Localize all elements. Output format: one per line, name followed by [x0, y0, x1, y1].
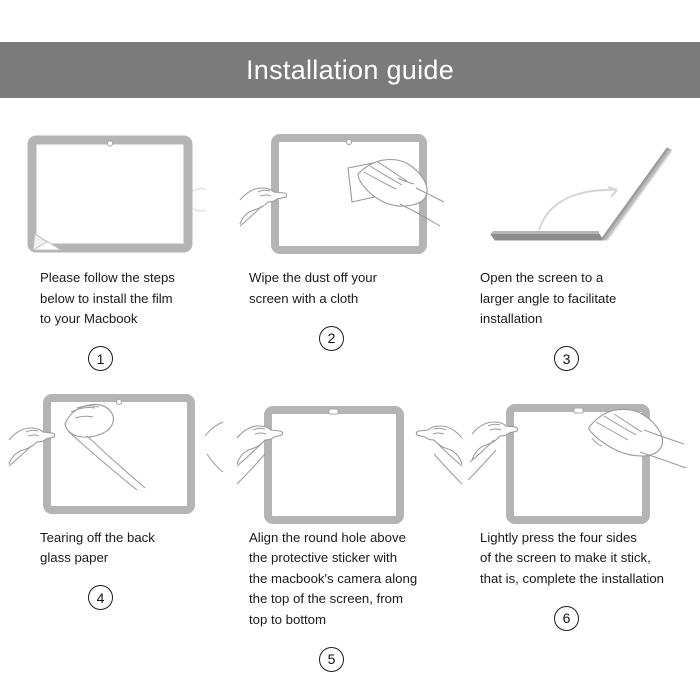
step-2-badge-row: 2 — [233, 309, 466, 367]
step-4-caption: Tearing off the back glass paper — [0, 522, 233, 569]
step-card-2: Wipe the dust off your screen with a clo… — [233, 128, 466, 388]
installation-guide-page: Installation guide Please follow the ste… — [0, 0, 700, 700]
step-3-badge-row: 3 — [466, 330, 700, 388]
hand-pressing-screen-edges-icon — [466, 388, 700, 522]
step-number-badge: 2 — [319, 326, 344, 351]
step-card-5: Align the round hole above the protectiv… — [233, 388, 466, 689]
step-6-illustration — [466, 388, 700, 522]
step-number-badge: 4 — [88, 585, 113, 610]
step-card-4: Tearing off the back glass paper 4 — [0, 388, 233, 689]
step-2-illustration — [233, 128, 466, 260]
step-2-caption: Wipe the dust off your screen with a clo… — [233, 260, 466, 309]
step-5-illustration — [233, 388, 466, 522]
step-4-illustration — [0, 388, 233, 522]
hand-wiping-screen-with-cloth-icon — [240, 130, 460, 258]
step-card-6: Lightly press the four sides of the scre… — [466, 388, 700, 689]
step-6-caption: Lightly press the four sides of the scre… — [466, 522, 700, 590]
two-hands-aligning-film-icon — [237, 388, 462, 522]
step-6-badge-row: 6 — [466, 589, 700, 647]
step-1-badge-row: 1 — [0, 330, 233, 388]
step-number-badge: 6 — [554, 606, 579, 631]
step-4-badge-row: 4 — [0, 569, 233, 627]
steps-grid: Please follow the steps below to install… — [0, 128, 700, 688]
step-card-3: Open the screen to a larger angle to fac… — [466, 128, 700, 388]
laptop-opening-profile-arrow-icon — [471, 130, 696, 258]
step-5-caption: Align the round hole above the protectiv… — [233, 522, 466, 631]
step-card-1: Please follow the steps below to install… — [0, 128, 233, 388]
header-banner: Installation guide — [0, 42, 700, 98]
page-title: Installation guide — [246, 57, 454, 84]
step-1-caption: Please follow the steps below to install… — [0, 260, 233, 330]
hands-tearing-back-paper-icon — [9, 388, 224, 522]
step-number-badge: 5 — [319, 647, 344, 672]
step-5-badge-row: 5 — [233, 630, 466, 688]
screen-with-peeling-film-icon — [17, 130, 217, 258]
step-3-caption: Open the screen to a larger angle to fac… — [466, 260, 700, 330]
step-number-badge: 3 — [554, 346, 579, 371]
step-number-badge: 1 — [88, 346, 113, 371]
step-1-illustration — [0, 128, 233, 260]
step-3-illustration — [466, 128, 700, 260]
